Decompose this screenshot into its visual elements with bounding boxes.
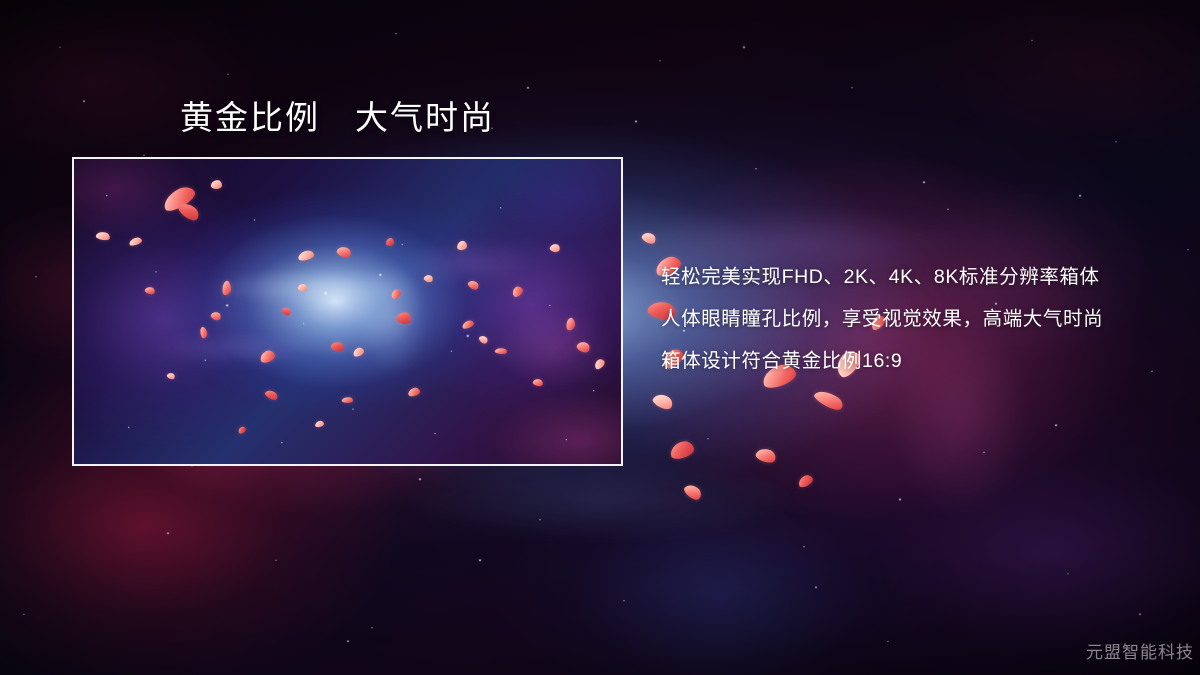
rose-petal xyxy=(797,473,815,489)
rose-petal xyxy=(812,386,845,414)
body-text-block: 轻松完美实现FHD、2K、4K、8K标准分辨率箱体 人体眼睛瞳孔比例，享受视觉效… xyxy=(661,256,1181,382)
picture-inner xyxy=(74,159,621,464)
rose-petal xyxy=(640,230,657,246)
body-line-2: 人体眼睛瞳孔比例，享受视觉效果，高端大气时尚 xyxy=(661,298,1181,340)
page-title: 黄金比例 大气时尚 xyxy=(180,100,495,136)
picture-starfield xyxy=(74,159,621,464)
rose-petal xyxy=(754,446,777,465)
body-line-1: 轻松完美实现FHD、2K、4K、8K标准分辨率箱体 xyxy=(661,256,1181,298)
watermark-label: 元盟智能科技 xyxy=(1086,638,1194,663)
rose-petal xyxy=(682,482,704,503)
slide-canvas: 黄金比例 大气时尚 轻松完美实现FHD、2K、4K、8K标准分辨率箱体 人体眼睛… xyxy=(0,0,1200,675)
body-line-3: 箱体设计符合黄金比例16:9 xyxy=(661,340,1181,382)
rose-petal xyxy=(668,439,695,461)
rose-petal xyxy=(651,391,675,412)
framed-nebula-picture xyxy=(72,157,623,466)
